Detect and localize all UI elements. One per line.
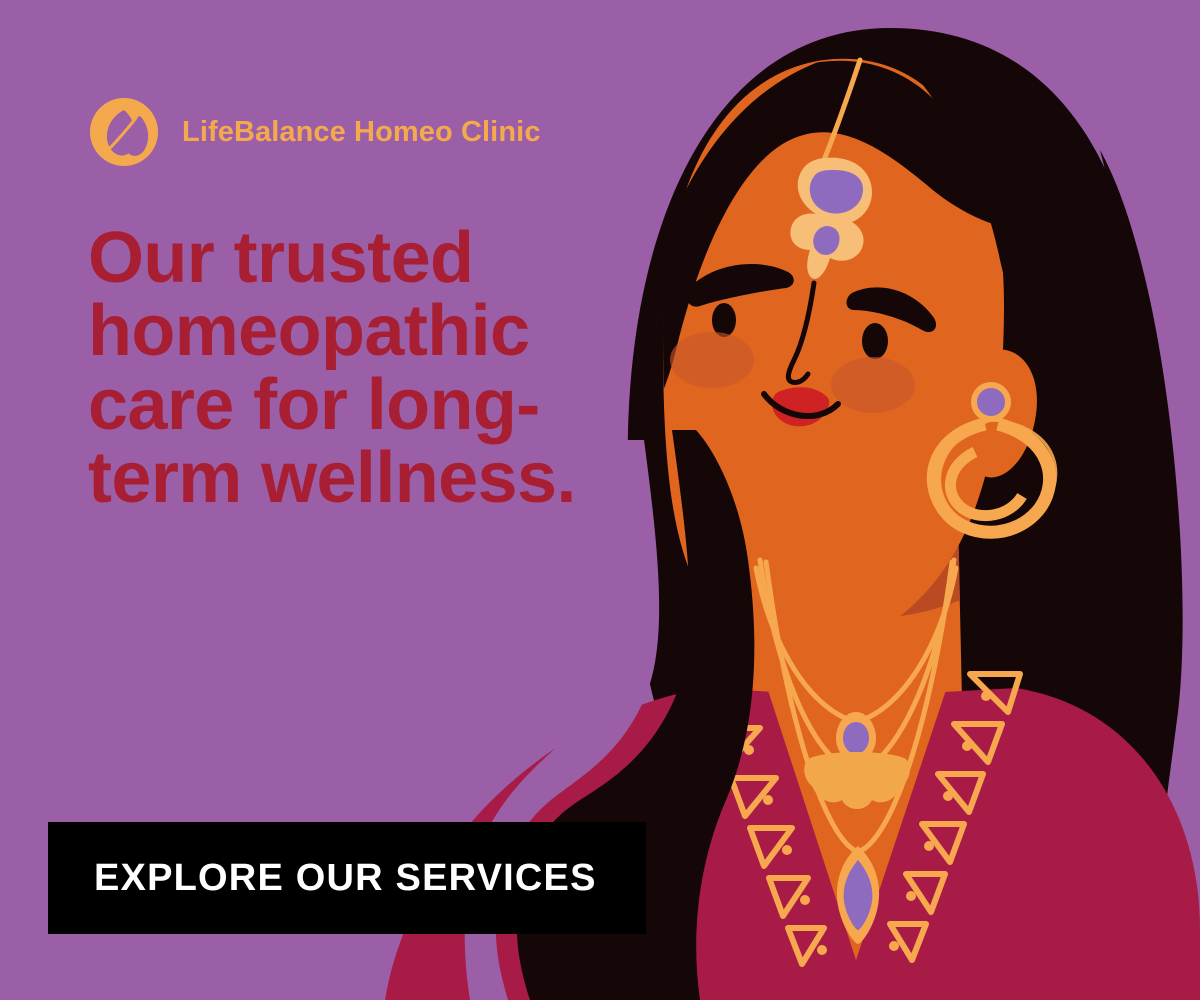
explore-our-services-button[interactable]: EXPLORE OUR SERVICES: [48, 822, 646, 934]
leaf-circle-logo-icon: [88, 96, 160, 168]
cta-button-label: EXPLORE OUR SERVICES: [94, 859, 597, 897]
ad-banner: LifeBalance Homeo Clinic Our trusted hom…: [0, 0, 1200, 1000]
brand-name: LifeBalance Homeo Clinic: [182, 118, 541, 147]
headline: Our trusted homeopathic care for long-te…: [88, 222, 648, 516]
brand-lockup[interactable]: LifeBalance Homeo Clinic: [88, 96, 541, 168]
